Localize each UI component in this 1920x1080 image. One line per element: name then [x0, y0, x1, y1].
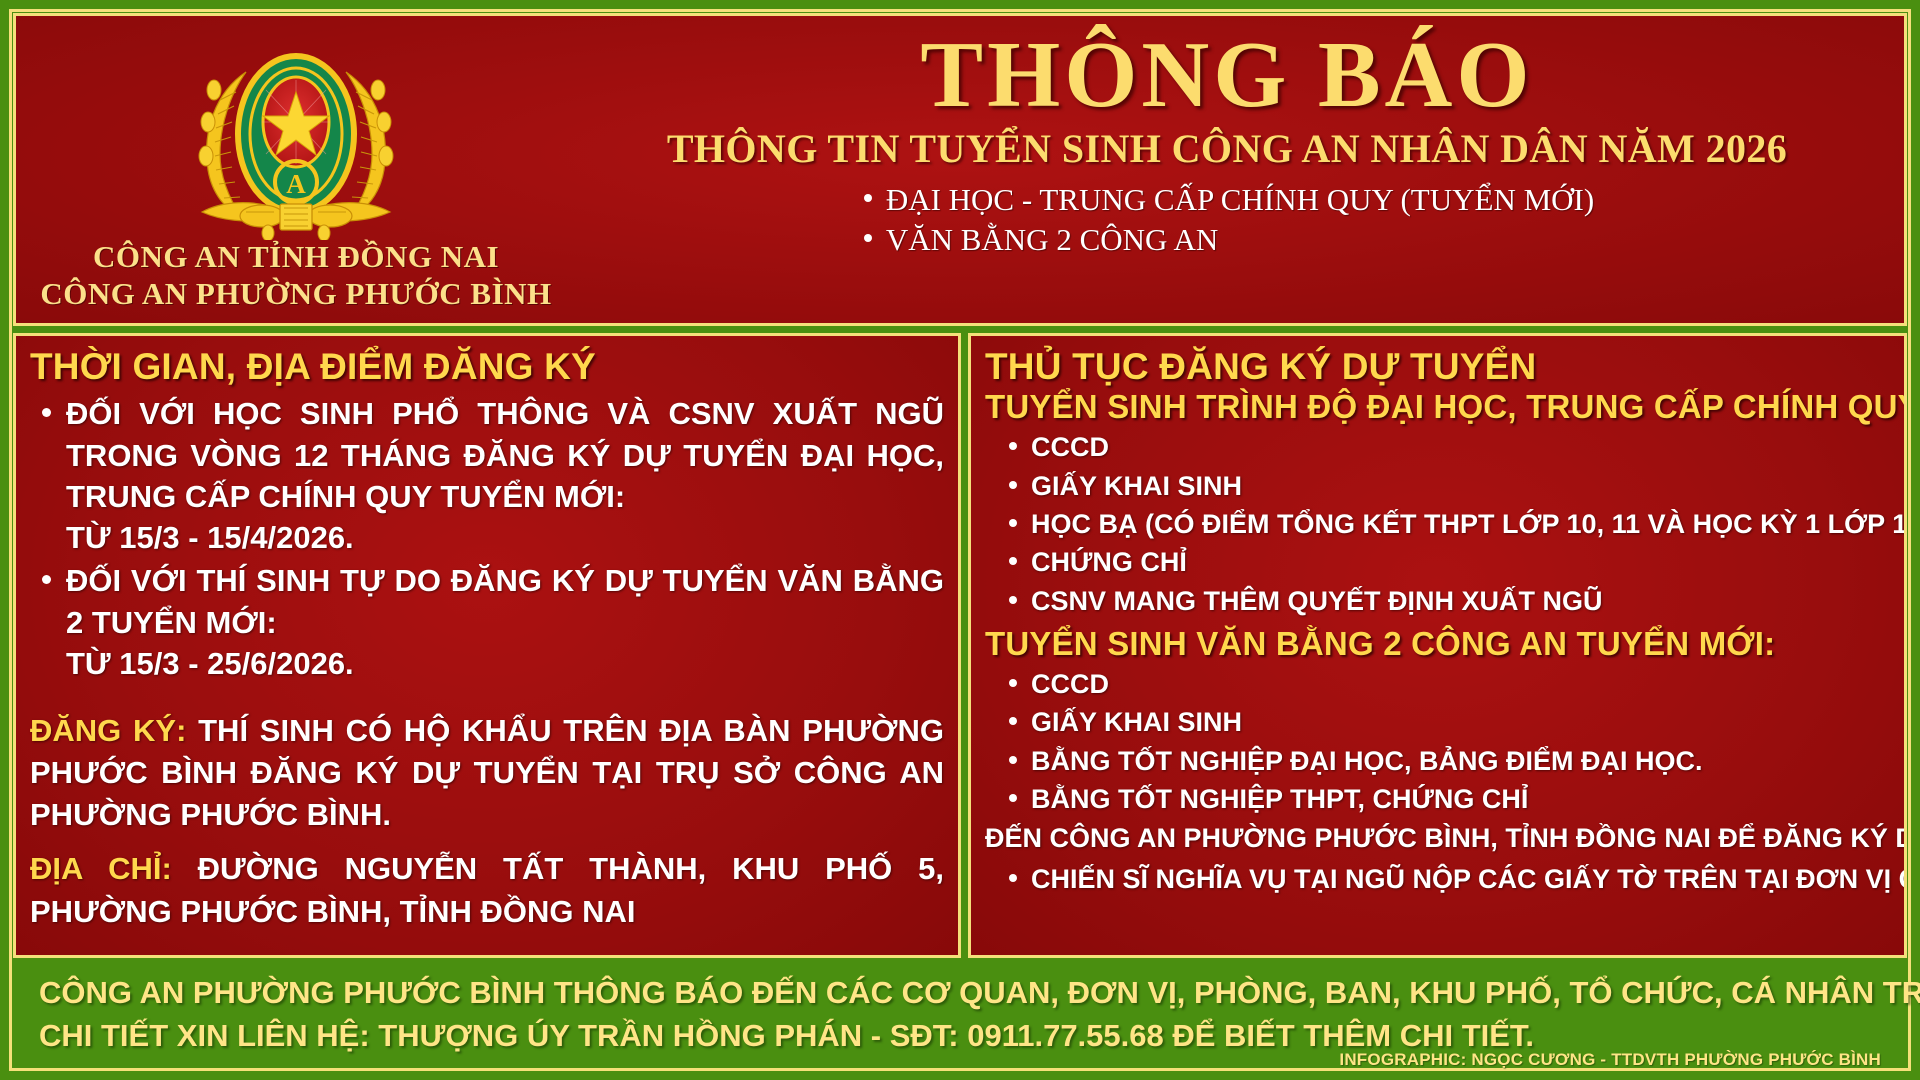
vietnam-public-security-emblem-icon: A — [150, 30, 442, 240]
header-left-block: A — [16, 16, 576, 311]
list-item: GIẤY KHAI SINH — [985, 467, 1890, 505]
page-title: THÔNG BÁO — [576, 28, 1878, 122]
address-label: ĐỊA CHỈ: — [30, 851, 172, 886]
content-columns: THỜI GIAN, ĐỊA ĐIỂM ĐĂNG KÝ ĐỐI VỚI HỌC … — [13, 333, 1907, 958]
list-item: HỌC BẠ (CÓ ĐIỂM TỔNG KẾT THPT LỚP 10, 11… — [985, 505, 1890, 543]
org-name-ward: CÔNG AN PHƯỜNG PHƯỚC BÌNH — [16, 277, 576, 312]
list-item: GIẤY KHAI SINH — [985, 703, 1890, 741]
left-panel-list: ĐỐI VỚI HỌC SINH PHỔ THÔNG VÀ CSNV XUẤT … — [30, 393, 944, 684]
list-item-date: TỪ 15/3 - 25/6/2026. — [66, 643, 944, 684]
poster-footer: CÔNG AN PHƯỜNG PHƯỚC BÌNH THÔNG BÁO ĐẾN … — [13, 966, 1907, 1074]
right-panel-list-section-1: CCCD GIẤY KHAI SINH HỌC BẠ (CÓ ĐIỂM TỔNG… — [985, 428, 1890, 620]
list-item: CCCD — [985, 428, 1890, 466]
address-paragraph: ĐỊA CHỈ: ĐƯỜNG NGUYỄN TẤT THÀNH, KHU PHỐ… — [30, 848, 944, 932]
list-item: CHỨNG CHỈ — [985, 543, 1890, 581]
right-panel-heading: THỦ TỤC ĐĂNG KÝ DỰ TUYỂN — [985, 346, 1890, 387]
left-panel-heading: THỜI GIAN, ĐỊA ĐIỂM ĐĂNG KÝ — [30, 346, 944, 387]
list-item-text: ĐỐI VỚI HỌC SINH PHỔ THÔNG VÀ CSNV XUẤT … — [66, 393, 944, 517]
list-item: BẰNG TỐT NGHIỆP THPT, CHỨNG CHỈ — [985, 780, 1890, 818]
svg-text:A: A — [286, 169, 306, 199]
registration-paragraph: ĐĂNG KÝ: THÍ SINH CÓ HỘ KHẨU TRÊN ĐỊA BÀ… — [30, 710, 944, 836]
header-bullet-list: ĐẠI HỌC - TRUNG CẤP CHÍNH QUY (TUYỂN MỚI… — [860, 180, 1594, 259]
right-panel-final-list: CHIẾN SĨ NGHĨA VỤ TẠI NGŨ NỘP CÁC GIẤY T… — [985, 860, 1890, 898]
right-panel-list-section-2: CCCD GIẤY KHAI SINH BẰNG TỐT NGHIỆP ĐẠI … — [985, 665, 1890, 818]
list-item: ĐẠI HỌC - TRUNG CẤP CHÍNH QUY (TUYỂN MỚI… — [860, 180, 1594, 220]
list-item: ĐỐI VỚI HỌC SINH PHỔ THÔNG VÀ CSNV XUẤT … — [30, 393, 944, 558]
footer-credit: INFOGRAPHIC: NGỌC CƯƠNG - TTDVTH PHƯỜNG … — [1339, 1050, 1881, 1070]
header-right-block: THÔNG BÁO THÔNG TIN TUYỂN SINH CÔNG AN N… — [576, 16, 1904, 259]
right-panel-section-1-heading: TUYỂN SINH TRÌNH ĐỘ ĐẠI HỌC, TRUNG CẤP C… — [985, 389, 1890, 426]
right-panel-section-2-heading: TUYỂN SINH VĂN BẰNG 2 CÔNG AN TUYỂN MỚI: — [985, 626, 1890, 663]
list-item: BẰNG TỐT NGHIỆP ĐẠI HỌC, BẢNG ĐIỂM ĐẠI H… — [985, 742, 1890, 780]
list-item: CCCD — [985, 665, 1890, 703]
list-item: CSNV MANG THÊM QUYẾT ĐỊNH XUẤT NGŨ — [985, 582, 1890, 620]
registration-label: ĐĂNG KÝ: — [30, 713, 186, 748]
poster-root: A — [0, 0, 1920, 1080]
panel-registration-procedure: THỦ TỤC ĐĂNG KÝ DỰ TUYỂN TUYỂN SINH TRÌN… — [968, 333, 1907, 958]
list-item: ĐỐI VỚI THÍ SINH TỰ DO ĐĂNG KÝ DỰ TUYỂN … — [30, 560, 944, 684]
org-name-province: CÔNG AN TỈNH ĐỒNG NAI — [16, 240, 576, 275]
page-subtitle: THÔNG TIN TUYỂN SINH CÔNG AN NHÂN DÂN NĂ… — [576, 128, 1878, 170]
list-item-date: TỪ 15/3 - 15/4/2026. — [66, 517, 944, 558]
poster-header: A — [13, 13, 1907, 326]
list-item-text: ĐỐI VỚI THÍ SINH TỰ DO ĐĂNG KÝ DỰ TUYỂN … — [66, 560, 944, 642]
panel-time-and-place: THỜI GIAN, ĐỊA ĐIỂM ĐĂNG KÝ ĐỐI VỚI HỌC … — [13, 333, 961, 958]
list-item: CHIẾN SĨ NGHĨA VỤ TẠI NGŨ NỘP CÁC GIẤY T… — [985, 860, 1890, 898]
right-panel-note: ĐẾN CÔNG AN PHƯỜNG PHƯỚC BÌNH, TỈNH ĐỒNG… — [985, 820, 1890, 858]
footer-line-1: CÔNG AN PHƯỜNG PHƯỚC BÌNH THÔNG BÁO ĐẾN … — [39, 972, 1889, 1015]
list-item: VĂN BẰNG 2 CÔNG AN — [860, 220, 1594, 260]
